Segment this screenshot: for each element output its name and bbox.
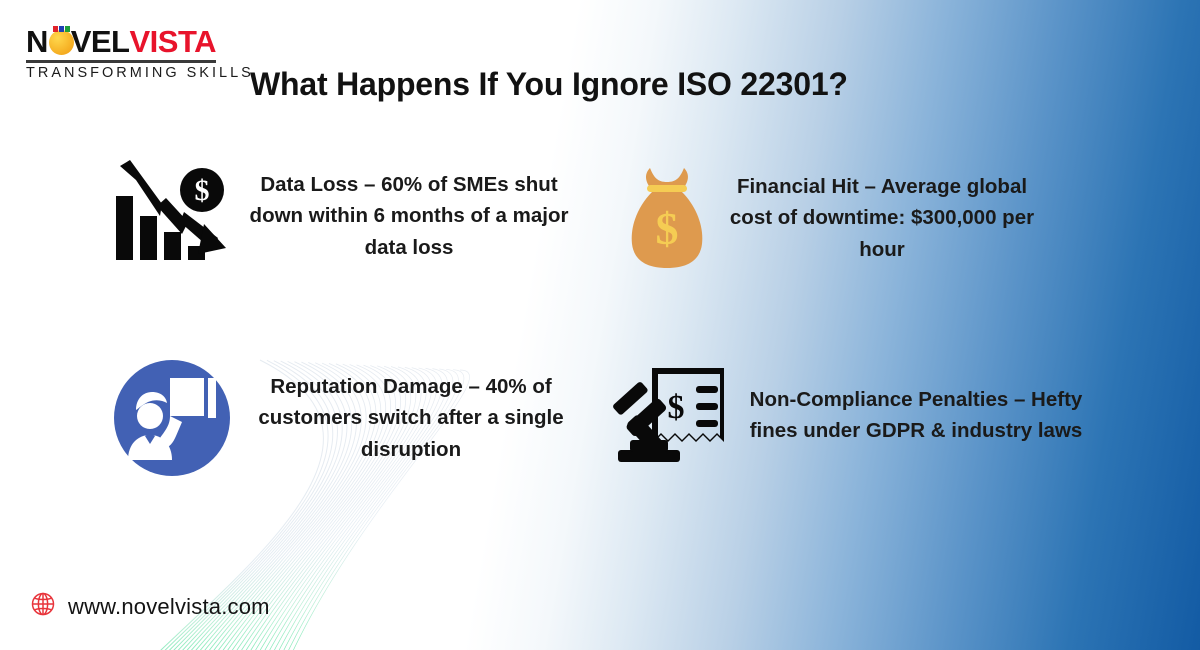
website-url[interactable]: www.novelvista.com [68, 594, 270, 620]
point-financial-hit: $ Financial Hit – Average global cost of… [628, 164, 1078, 272]
point-label: Data Loss – 60% of SMEs shut down within… [244, 169, 574, 262]
gavel-invoice-icon: $ [604, 362, 728, 468]
footer: www.novelvista.com [30, 591, 270, 622]
points-grid: $ Data Loss – 60% of SMEs shut down with… [0, 0, 1200, 650]
point-label: Non-Compliance Penalties – Hefty fines u… [740, 384, 1092, 446]
globe-icon [30, 591, 56, 622]
thumbs-down-person-icon [112, 358, 232, 478]
point-reputation-damage: Reputation Damage – 40% of customers swi… [112, 358, 582, 478]
svg-text:$: $ [195, 174, 210, 207]
svg-text:$: $ [656, 203, 679, 254]
point-label: Financial Hit – Average global cost of d… [722, 171, 1042, 264]
point-label: Reputation Damage – 40% of customers swi… [246, 371, 576, 464]
point-non-compliance-penalties: $ Non-Compliance Penalties – Hefty fines… [604, 362, 1104, 468]
declining-bar-chart-dollar-icon: $ [112, 160, 230, 272]
point-data-loss: $ Data Loss – 60% of SMEs shut down with… [112, 160, 582, 272]
money-bag-icon: $ [628, 164, 706, 272]
svg-text:$: $ [668, 389, 685, 426]
